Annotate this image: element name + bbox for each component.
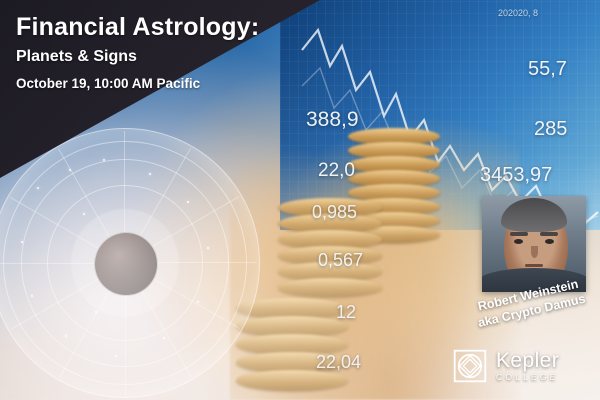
floating-number: 22,04 — [316, 352, 361, 373]
brow-right — [540, 232, 558, 236]
title-block: Financial Astrology: Planets & Signs Oct… — [16, 14, 326, 91]
floating-number: 388,9 — [306, 108, 359, 132]
nose-shape — [531, 246, 538, 258]
floating-number: 0,567 — [318, 250, 363, 271]
promo-graphic: 202020, 8 55,7 388,9 285 22,0 3453,97 0,… — [0, 0, 600, 400]
floating-number: 202020, 8 — [498, 8, 538, 18]
logo-text: Kepler COLLEGE — [496, 350, 559, 382]
floating-number: 22,0 — [318, 160, 355, 182]
floating-number: 12 — [336, 302, 356, 323]
hair-shape — [501, 198, 567, 232]
logo-name: Kepler — [496, 350, 559, 371]
floating-number: 285 — [534, 118, 567, 141]
eye-left — [514, 239, 523, 244]
floating-number: 55,7 — [528, 58, 567, 81]
page-subtitle: Planets & Signs — [16, 48, 326, 66]
page-title: Financial Astrology: — [16, 14, 326, 41]
floating-number: 3453,97 — [480, 164, 552, 187]
logo-subtitle: COLLEGE — [496, 373, 559, 382]
kepler-mark-icon — [452, 348, 488, 384]
event-datetime: October 19, 10:00 AM Pacific — [16, 76, 326, 91]
eye-right — [545, 239, 554, 244]
floating-number: 0,985 — [312, 202, 357, 223]
kepler-college-logo: Kepler COLLEGE — [452, 348, 559, 384]
mouth-shape — [525, 264, 543, 267]
brow-left — [510, 232, 528, 236]
